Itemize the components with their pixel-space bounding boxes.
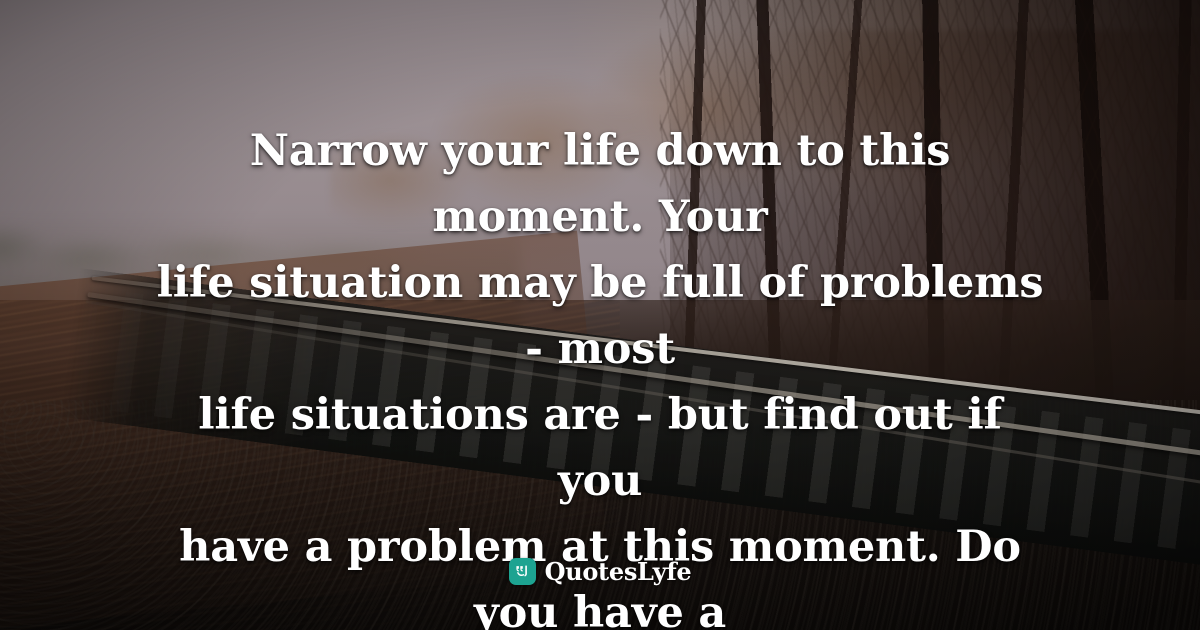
quote-line: life situations are - but find out if yo… [150,382,1050,514]
card-content: Narrow your life down to this moment. Yo… [0,0,1200,630]
quote-mark-icon [509,558,536,585]
brand-logo[interactable]: QuotesLyfe [0,557,1200,586]
quote-text: Narrow your life down to this moment. Yo… [150,118,1050,630]
quote-line: life situation may be full of problems -… [150,250,1050,382]
quote-card: Narrow your life down to this moment. Yo… [0,0,1200,630]
quote-line: Narrow your life down to this moment. Yo… [150,118,1050,250]
brand-name-text: QuotesLyfe [545,557,692,586]
